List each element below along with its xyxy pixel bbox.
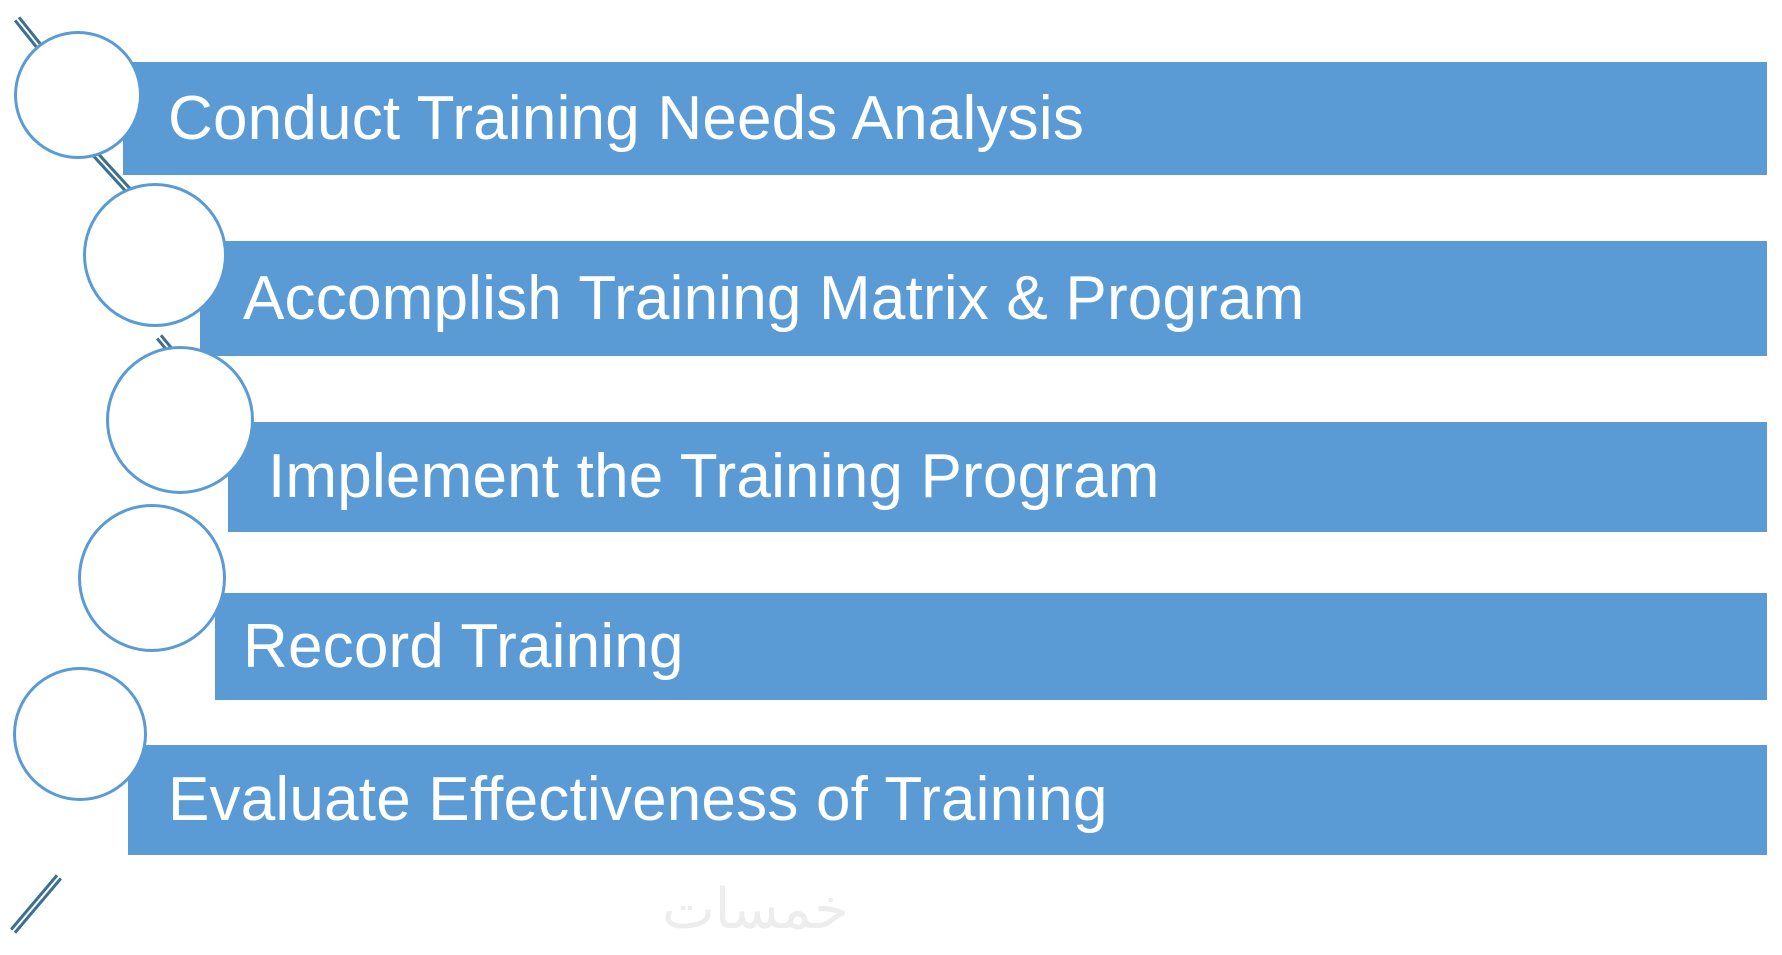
step-bar-4[interactable]: Record Training <box>215 593 1767 700</box>
step-bar-2[interactable]: Accomplish Training Matrix & Program <box>200 241 1767 356</box>
step-bar-3[interactable]: Implement the Training Program <box>228 422 1767 532</box>
step-node-4[interactable] <box>78 504 226 652</box>
step-node-1[interactable] <box>14 31 142 159</box>
step-bar-1[interactable]: Conduct Training Needs Analysis <box>123 62 1767 175</box>
step-label-2: Accomplish Training Matrix & Program <box>243 268 1305 330</box>
connector-exit <box>16 880 60 932</box>
step-node-3[interactable] <box>106 346 254 494</box>
watermark-text: خمسات <box>662 882 849 938</box>
step-node-5[interactable] <box>13 667 147 801</box>
step-label-3: Implement the Training Program <box>268 446 1160 508</box>
diagram-canvas: Conduct Training Needs Analysis Accompli… <box>0 0 1782 955</box>
step-bar-5[interactable]: Evaluate Effectiveness of Training <box>128 745 1767 855</box>
step-node-2[interactable] <box>83 183 227 327</box>
step-label-4: Record Training <box>243 616 684 678</box>
connector-exit <box>12 876 56 928</box>
step-label-5: Evaluate Effectiveness of Training <box>168 769 1108 831</box>
step-label-1: Conduct Training Needs Analysis <box>168 88 1084 150</box>
